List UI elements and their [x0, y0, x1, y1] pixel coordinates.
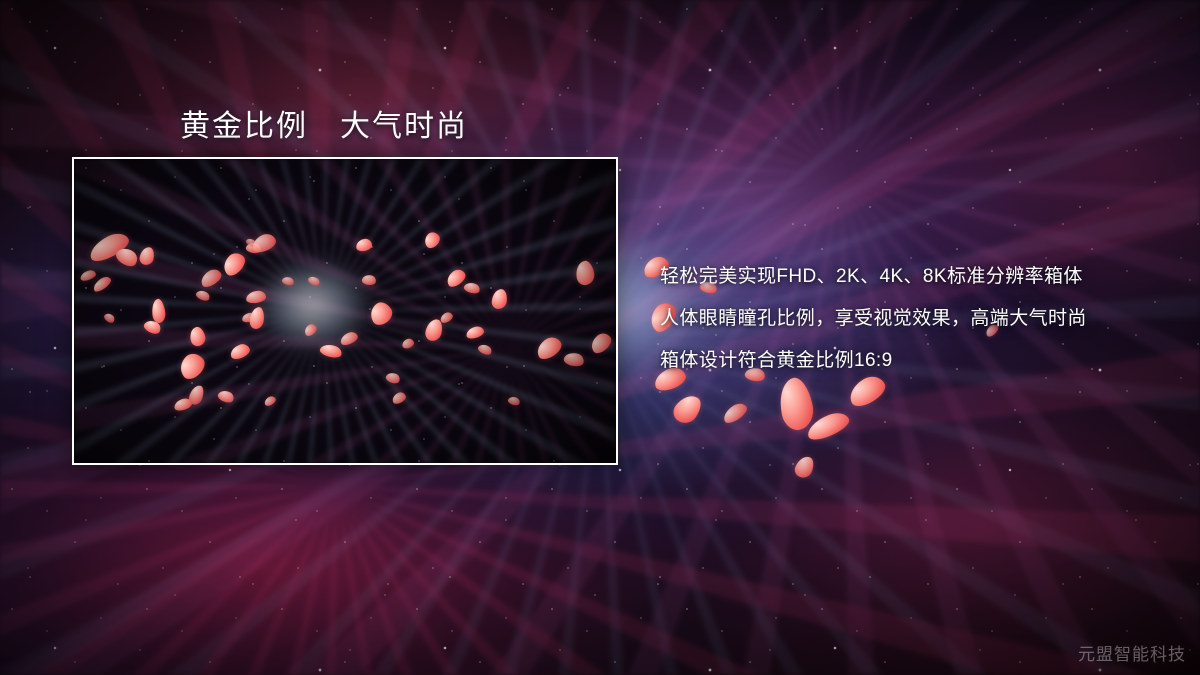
petal-icon [804, 408, 852, 443]
page-title: 黄金比例 大气时尚 [180, 101, 468, 145]
petal-icon [792, 454, 816, 481]
feature-line-resolution: 轻松完美实现FHD、2K、4K、8K标准分辨率箱体 [660, 256, 1180, 298]
framed-photo [72, 157, 618, 465]
petal-icon [775, 375, 817, 433]
photo-vignette [74, 159, 616, 463]
petal-icon [720, 400, 749, 426]
presentation-slide: 黄金比例 大气时尚 [0, 0, 1200, 675]
company-watermark: 元盟智能科技 [1078, 640, 1186, 665]
feature-line-visual-effect: 人体眼睛瞳孔比例，享受视觉效果，高端大气时尚 [660, 298, 1180, 340]
feature-description-block: 轻松完美实现FHD、2K、4K、8K标准分辨率箱体 人体眼睛瞳孔比例，享受视觉效… [660, 256, 1180, 382]
feature-line-golden-ratio: 箱体设计符合黄金比例16:9 [660, 340, 1180, 382]
petal-icon [669, 390, 705, 428]
